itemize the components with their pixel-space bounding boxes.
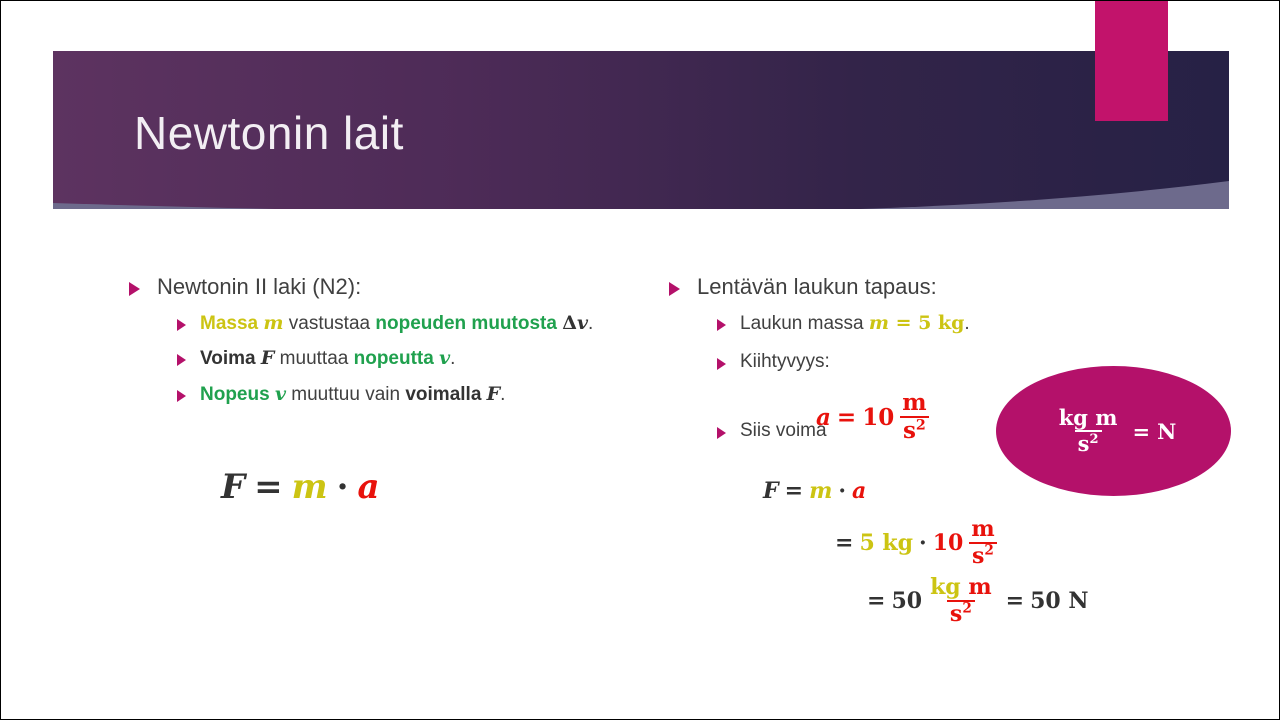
triangle-bullet-icon	[669, 282, 680, 296]
unit-fraction: kg m s2	[927, 576, 995, 626]
bullet-left-3: Nopeus v muuttuu vain voimalla F.	[177, 382, 629, 408]
bullet-left-1: Massa m vastustaa nopeuden muutosta Δv.	[177, 311, 629, 337]
eq-mass: m	[292, 467, 328, 507]
unit-fraction: m s2	[899, 391, 929, 443]
bullet-right-heading: Lentävän laukun tapaus:	[669, 273, 1229, 301]
fraction-denominator: s2	[969, 542, 997, 568]
triangle-bullet-icon	[129, 282, 140, 296]
accent-rectangle	[1095, 1, 1168, 121]
unit-callout-ellipse: kg m s2 = N	[996, 366, 1231, 496]
eq-lhs: F	[221, 467, 245, 507]
eq-equals-2: =	[1006, 588, 1024, 614]
unit-base: s	[950, 601, 962, 627]
eq-result: N	[1157, 419, 1176, 444]
eq-lhs: F	[763, 478, 779, 504]
mass-suffix: .	[964, 313, 969, 334]
fraction-denominator: s2	[900, 416, 929, 443]
eq-equals: =	[254, 467, 283, 507]
bullet-text: Kiihtyvyys:	[740, 350, 830, 375]
equation-force-line3: = 50 kg m s2 = 50 N	[861, 576, 1088, 626]
eq-equals: =	[867, 588, 885, 614]
unit-kg: kg	[1059, 405, 1088, 430]
bullet-text: Nopeus v muuttuu vain voimalla F.	[200, 382, 505, 408]
eq-equals: =	[835, 530, 853, 556]
equation-newton-unit: kg m s2 = N	[1051, 407, 1177, 455]
eq-dot: ·	[838, 478, 846, 504]
eq-equals: =	[1132, 419, 1150, 444]
unit-fraction: m s2	[968, 518, 997, 568]
triangle-bullet-icon	[717, 319, 726, 331]
unit-exponent: 2	[1089, 432, 1098, 447]
bullet-text: Lentävän laukun tapaus:	[697, 273, 937, 301]
eq-mass-value: 5 kg	[859, 530, 913, 556]
eq-value: 50	[891, 588, 922, 614]
equation-force-line1: F = m · a	[763, 478, 866, 504]
eq-dot: ·	[337, 467, 349, 507]
bullet-text: Voima F muuttaa nopeutta v.	[200, 346, 455, 372]
triangle-bullet-icon	[177, 390, 186, 402]
triangle-bullet-icon	[177, 319, 186, 331]
bullet-text: Massa m vastustaa nopeuden muutosta Δv.	[200, 311, 593, 337]
equation-acceleration: a = 10 m s2	[816, 391, 935, 443]
unit-base: s	[903, 417, 916, 444]
unit-exponent: 2	[962, 601, 971, 617]
bullet-text: Newtonin II laki (N2):	[157, 273, 361, 301]
fraction-denominator: s2	[1075, 430, 1102, 455]
eq-value: 10	[862, 404, 894, 431]
eq-equals: =	[837, 404, 856, 431]
unit-exponent: 2	[916, 417, 926, 433]
unit-base: s	[972, 543, 984, 569]
fraction-numerator: m	[968, 518, 997, 542]
bullet-text: Siis voima	[740, 419, 827, 444]
unit-m: m	[1095, 405, 1117, 430]
eq-accel-value: 10	[933, 530, 964, 556]
triangle-bullet-icon	[177, 354, 186, 366]
unit-m: m	[968, 574, 991, 600]
eq-dot: ·	[919, 530, 927, 556]
triangle-bullet-icon	[717, 358, 726, 370]
slide-canvas: Newtonin lait Newtonin II laki (N2): Mas…	[0, 0, 1280, 720]
unit-fraction: kg m s2	[1056, 407, 1121, 455]
unit-exponent: 2	[984, 543, 993, 559]
page-title: Newtonin lait	[134, 106, 404, 160]
bullet-left-heading: Newtonin II laki (N2):	[129, 273, 629, 301]
eq-mass: m	[809, 478, 832, 504]
unit-base: s	[1078, 431, 1090, 456]
bullet-text: Laukun massa m = 5 kg.	[740, 311, 970, 337]
bullet-left-2: Voima F muuttaa nopeutta v.	[177, 346, 629, 372]
left-content-column: Newtonin II laki (N2): Massa m vastustaa…	[129, 273, 629, 418]
fraction-numerator: m	[899, 391, 929, 416]
unit-kg: kg	[930, 574, 961, 600]
eq-result: 50 N	[1030, 588, 1088, 614]
fraction-denominator: s2	[947, 600, 975, 626]
fraction-numerator: kg m	[927, 576, 995, 600]
eq-accel: a	[357, 467, 379, 507]
fraction-numerator: kg m	[1056, 407, 1121, 430]
mass-label: Laukun massa	[740, 313, 869, 334]
equation-force-line2: = 5 kg · 10 m s2	[829, 518, 1003, 568]
bullet-right-mass: Laukun massa m = 5 kg.	[717, 311, 1229, 337]
eq-var: a	[816, 404, 831, 431]
eq-accel: a	[852, 478, 866, 504]
triangle-bullet-icon	[717, 427, 726, 439]
equation-newton-second-law: F = m · a	[221, 467, 380, 507]
eq-equals: =	[785, 478, 803, 504]
